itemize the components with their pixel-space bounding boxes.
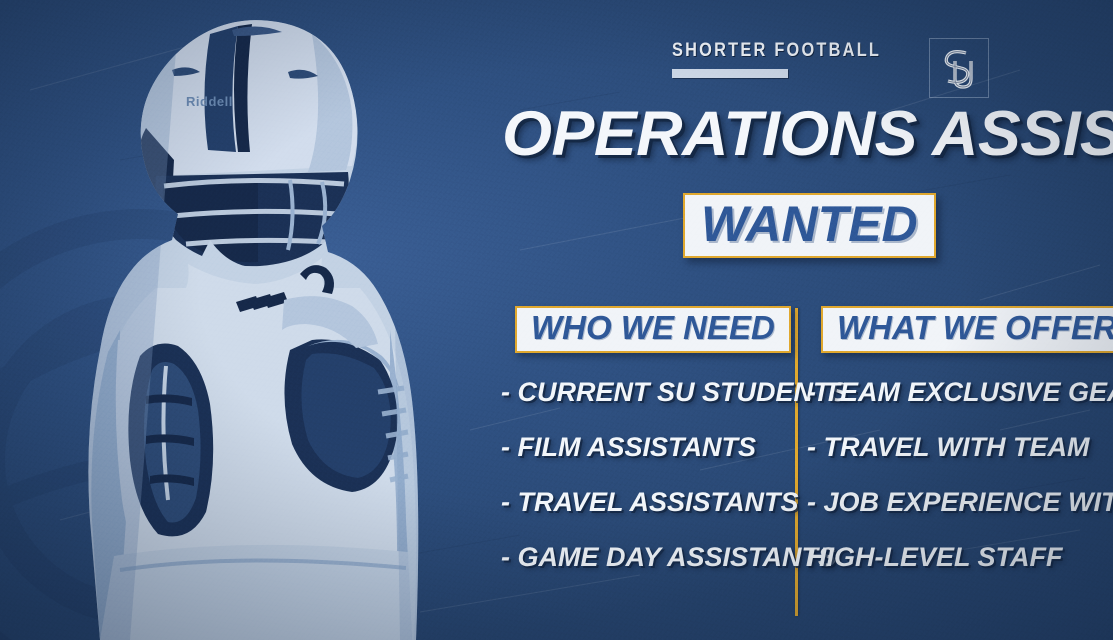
background-vignette — [0, 0, 1113, 640]
recruitment-poster: Riddell — [0, 0, 1113, 640]
